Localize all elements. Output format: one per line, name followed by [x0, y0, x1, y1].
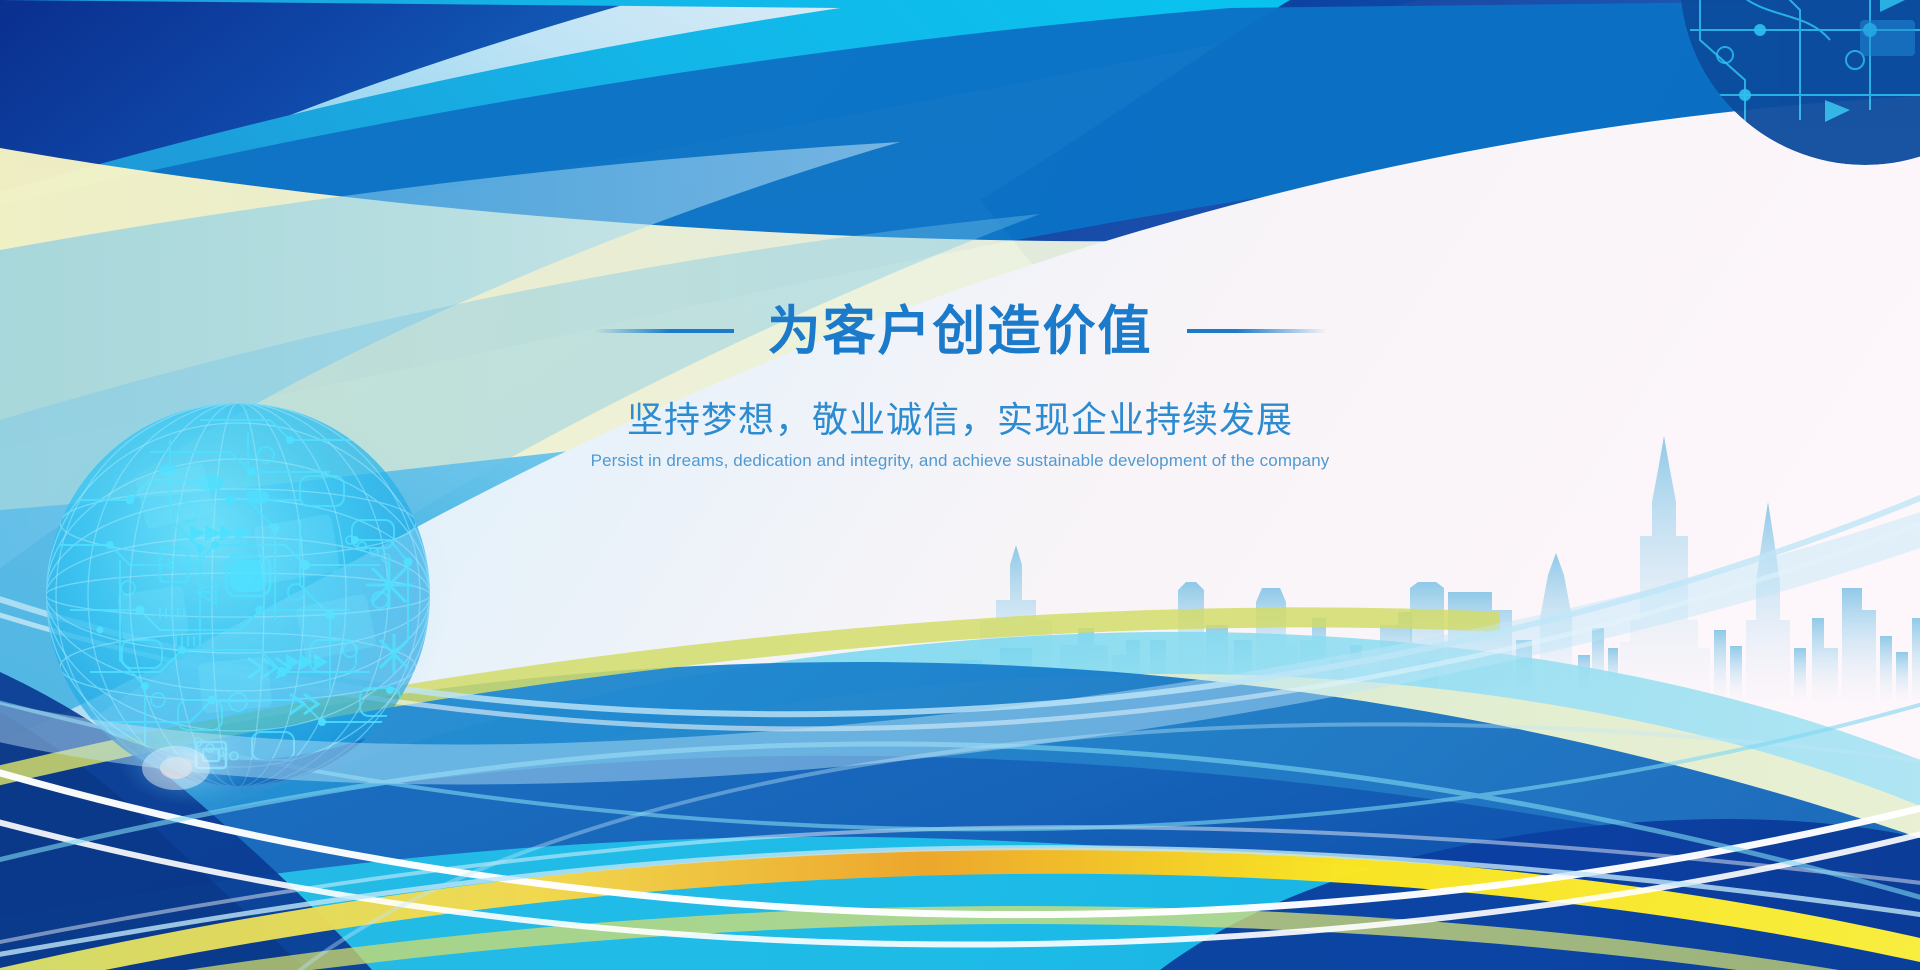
title-row: 为客户创造价值 — [360, 300, 1560, 362]
title-rule-left-icon — [594, 329, 734, 333]
corporate-banner: 为客户创造价值 坚持梦想，敬业诚信，实现企业持续发展 Persist in dr… — [0, 0, 1920, 970]
subtitle-english: Persist in dreams, dedication and integr… — [360, 451, 1560, 471]
subtitle-chinese: 坚持梦想，敬业诚信，实现企业持续发展 — [360, 400, 1560, 441]
page-title: 为客户创造价值 — [768, 305, 1153, 358]
title-rule-right-icon — [1187, 329, 1327, 333]
background-artwork — [0, 0, 1920, 970]
